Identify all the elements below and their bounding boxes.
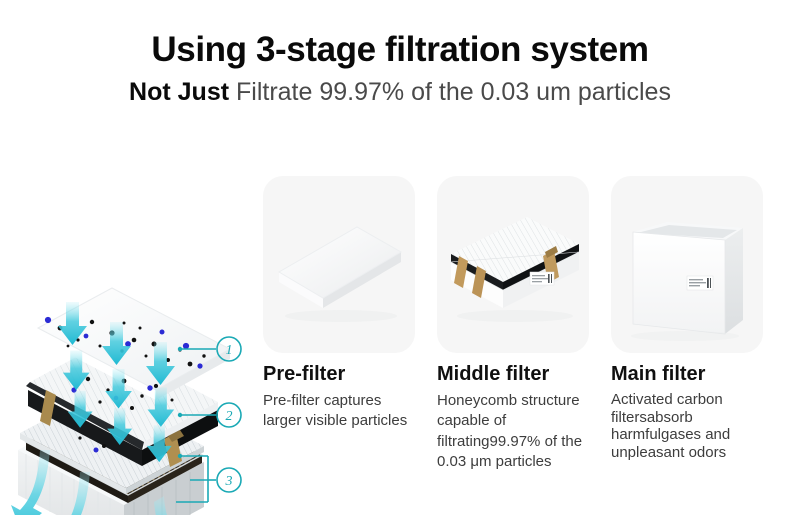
callout-1-label: 1 xyxy=(226,343,233,358)
filter-card-description: Activated carbon filtersabsorb harmfulga… xyxy=(611,391,757,462)
infographic-root: Using 3-stage filtration system Not Just… xyxy=(0,0,800,515)
filter-card-title: Main filter xyxy=(611,363,763,386)
middle-filter-photo xyxy=(437,176,589,353)
filter-card-middle-filter: Middle filter Honeycomb structure capabl… xyxy=(437,176,589,472)
filter-card-description: Honeycomb structure capable of filtratin… xyxy=(437,391,583,472)
main-filter-photo xyxy=(611,176,763,353)
callout-2-label: 2 xyxy=(226,409,233,424)
pre-filter-photo xyxy=(263,176,415,353)
filter-card-description: Pre-filter captures larger visible parti… xyxy=(263,391,409,432)
exploded-filter-diagram: 1 2 3 xyxy=(4,150,260,515)
callout-1-dot xyxy=(178,347,182,351)
subtitle-emphasis: Not Just xyxy=(129,78,229,106)
product-label xyxy=(530,272,554,285)
filter-card-title: Pre-filter xyxy=(263,363,415,386)
callout-3-label: 3 xyxy=(225,474,233,489)
subtitle-text: Filtrate 99.97% of the 0.03 um particles xyxy=(236,78,671,106)
callout-3-dot xyxy=(178,454,182,458)
callout-2-dot xyxy=(178,413,182,417)
product-label xyxy=(687,276,713,290)
filter-card-list: Pre-filter Pre-filter captures larger vi… xyxy=(263,176,763,506)
page-title: Using 3-stage filtration system xyxy=(0,30,800,70)
filter-card-pre-filter: Pre-filter Pre-filter captures larger vi… xyxy=(263,176,415,432)
page-subtitle: Not Just Filtrate 99.97% of the 0.03 um … xyxy=(0,78,800,107)
filter-card-title: Middle filter xyxy=(437,363,589,386)
filter-card-main-filter: Main filter Activated carbon filtersabso… xyxy=(611,176,763,462)
